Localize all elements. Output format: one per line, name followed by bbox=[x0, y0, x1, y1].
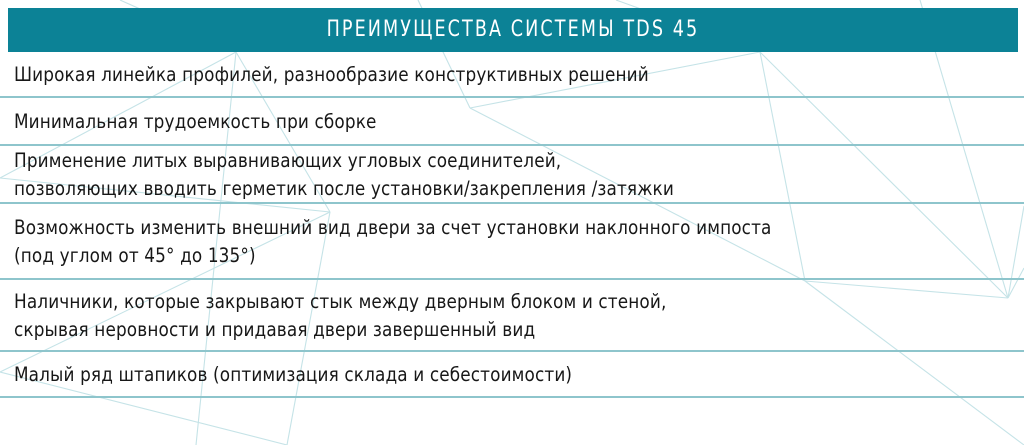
benefit-text-line: Минимальная трудоемкость при сборке bbox=[14, 108, 876, 136]
benefit-text-line: Применение литых выравнивающих угловых с… bbox=[14, 147, 876, 175]
benefit-text-line: (под углом от 45° до 135°) bbox=[14, 242, 876, 270]
benefit-text-line: позволяющих вводить герметик после устан… bbox=[14, 175, 876, 203]
benefit-text-line: Малый ряд штапиков (оптимизация склада и… bbox=[14, 361, 876, 389]
list-item: Широкая линейка профилей, разнообразие к… bbox=[0, 52, 1024, 98]
list-item: Малый ряд штапиков (оптимизация склада и… bbox=[0, 352, 1024, 398]
list-item: Наличники, которые закрывают стык между … bbox=[0, 280, 1024, 352]
benefit-text-line: скрывая неровности и придавая двери заве… bbox=[14, 316, 876, 344]
benefit-text-line: Возможность изменить внешний вид двери з… bbox=[14, 214, 876, 242]
slide-root: ПРЕИМУЩЕСТВА СИСТЕМЫ TDS 45 Широкая лине… bbox=[0, 0, 1024, 445]
list-item: Минимальная трудоемкость при сборке bbox=[0, 98, 1024, 146]
benefits-list: Широкая линейка профилей, разнообразие к… bbox=[0, 52, 1024, 398]
benefit-text-line: Наличники, которые закрывают стык между … bbox=[14, 288, 876, 316]
list-item: Возможность изменить внешний вид двери з… bbox=[0, 204, 1024, 280]
page-title: ПРЕИМУЩЕСТВА СИСТЕМЫ TDS 45 bbox=[327, 19, 700, 41]
row-divider bbox=[0, 396, 1024, 398]
benefit-text-line: Широкая линейка профилей, разнообразие к… bbox=[14, 61, 876, 89]
list-item: Применение литых выравнивающих угловых с… bbox=[0, 146, 1024, 204]
header-band: ПРЕИМУЩЕСТВА СИСТЕМЫ TDS 45 bbox=[8, 8, 1018, 52]
